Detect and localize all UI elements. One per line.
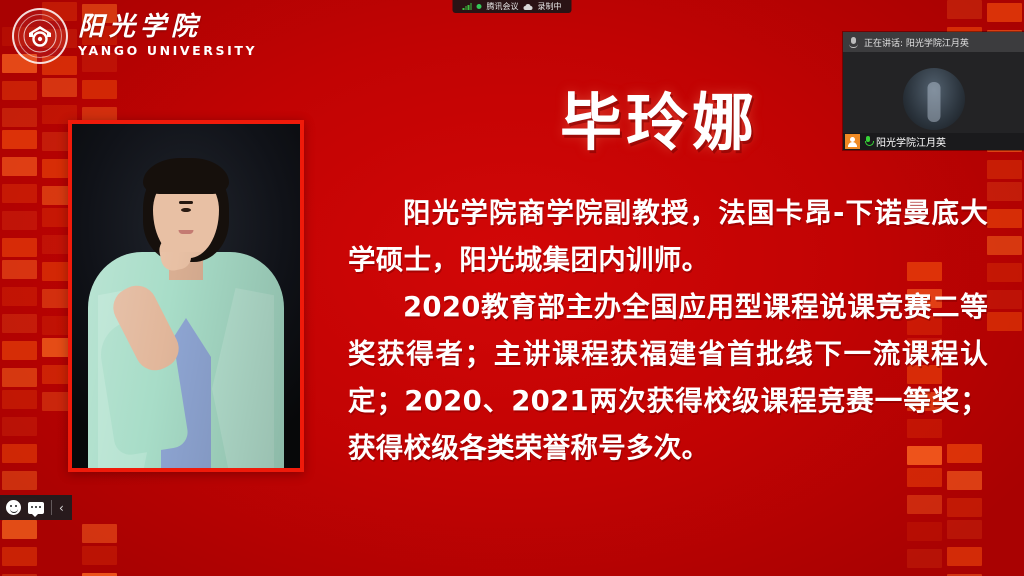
video-participant-panel[interactable]: 正在讲话: 阳光学院江月英 阳光学院江月英 (843, 32, 1024, 150)
mosaic-tile (42, 78, 77, 97)
mosaic-tile (907, 522, 942, 541)
mosaic-tile (2, 157, 37, 176)
portrait-mouth (179, 230, 194, 234)
mosaic-tile (2, 390, 37, 409)
mosaic-tile (82, 524, 117, 543)
signal-bars-icon (463, 3, 472, 10)
mosaic-tile (2, 184, 37, 203)
mosaic-tile (2, 130, 37, 149)
mosaic-tile (82, 546, 117, 565)
mosaic-tile (987, 312, 1022, 331)
participant-name: 阳光学院江月英 (876, 134, 946, 149)
mosaic-tile (2, 108, 37, 127)
logo-name-cn: 阳光学院 (78, 14, 257, 40)
mosaic-tile (907, 549, 942, 568)
mosaic-tile (987, 290, 1022, 309)
speaker-person-icon (849, 37, 858, 48)
mosaic-tile (947, 547, 982, 566)
university-logo: 阳光学院 YANGO UNIVERSITY (12, 8, 257, 64)
mosaic-tile (907, 495, 942, 514)
mosaic-tile (82, 80, 117, 99)
slide-body: 阳光学院商学院副教授，法国卡昂-下诺曼底大学硕士，阳光城集团内训师。 2020教… (348, 190, 988, 472)
slide-paragraph-1: 阳光学院商学院副教授，法国卡昂-下诺曼底大学硕士，阳光城集团内训师。 (348, 190, 988, 284)
university-crest-icon (12, 8, 68, 64)
mosaic-tile (987, 160, 1022, 179)
video-panel-header: 正在讲话: 阳光学院江月英 (843, 32, 1024, 52)
mosaic-tile (2, 444, 37, 463)
mosaic-tile (987, 209, 1022, 228)
mosaic-tile (2, 211, 37, 230)
participant-name-bar: 阳光学院江月英 (843, 133, 1024, 150)
floating-toolbar[interactable]: ‹ (0, 495, 72, 520)
chat-bubble-icon[interactable] (28, 502, 44, 514)
portrait-eyebrow-right (180, 201, 193, 204)
mosaic-tile (2, 417, 37, 436)
mosaic-tile (2, 260, 37, 279)
portrait-photo-frame (68, 120, 304, 472)
mosaic-tile (987, 236, 1022, 255)
green-status-dot (477, 4, 482, 9)
mosaic-tile (987, 3, 1022, 22)
mosaic-tile (2, 81, 37, 100)
mosaic-tile (2, 520, 37, 539)
mosaic-tile (2, 547, 37, 566)
slide-title: 毕玲娜 (560, 72, 758, 162)
mosaic-tile (2, 471, 37, 490)
logo-name-en: YANGO UNIVERSITY (78, 45, 257, 58)
cloud-icon (524, 4, 533, 10)
meeting-app-name: 腾讯会议 (487, 1, 519, 12)
portrait-shading (88, 252, 284, 468)
portrait-photo (72, 124, 300, 468)
portrait-hair-front (143, 158, 229, 194)
mosaic-tile (947, 0, 982, 19)
host-badge-icon (845, 134, 860, 149)
portrait-eye-right (182, 208, 191, 212)
smiley-emoji-icon[interactable] (6, 500, 21, 515)
mosaic-tile (987, 182, 1022, 201)
mosaic-tile (987, 263, 1022, 282)
participant-video-avatar (903, 68, 965, 130)
mosaic-tile (2, 287, 37, 306)
mosaic-tile (2, 341, 37, 360)
slide-paragraph-2: 2020教育部主办全国应用型课程说课竞赛二等奖获得者；主讲课程获福建省首批线下一… (348, 284, 988, 472)
mosaic-tile (2, 238, 37, 257)
microphone-on-icon[interactable] (863, 135, 873, 148)
video-feed[interactable]: 阳光学院江月英 (843, 52, 1024, 150)
mosaic-tile (947, 520, 982, 539)
recording-status-bar: 腾讯会议 录制中 (453, 0, 572, 13)
mosaic-tile (2, 314, 37, 333)
recording-label: 录制中 (538, 1, 562, 12)
mosaic-tile (947, 471, 982, 490)
mosaic-tile (947, 498, 982, 517)
speaking-label: 正在讲话: 阳光学院江月英 (864, 36, 969, 49)
mosaic-tile (2, 368, 37, 387)
chevron-left-icon[interactable]: ‹ (59, 502, 64, 514)
toolbar-divider (51, 500, 52, 515)
